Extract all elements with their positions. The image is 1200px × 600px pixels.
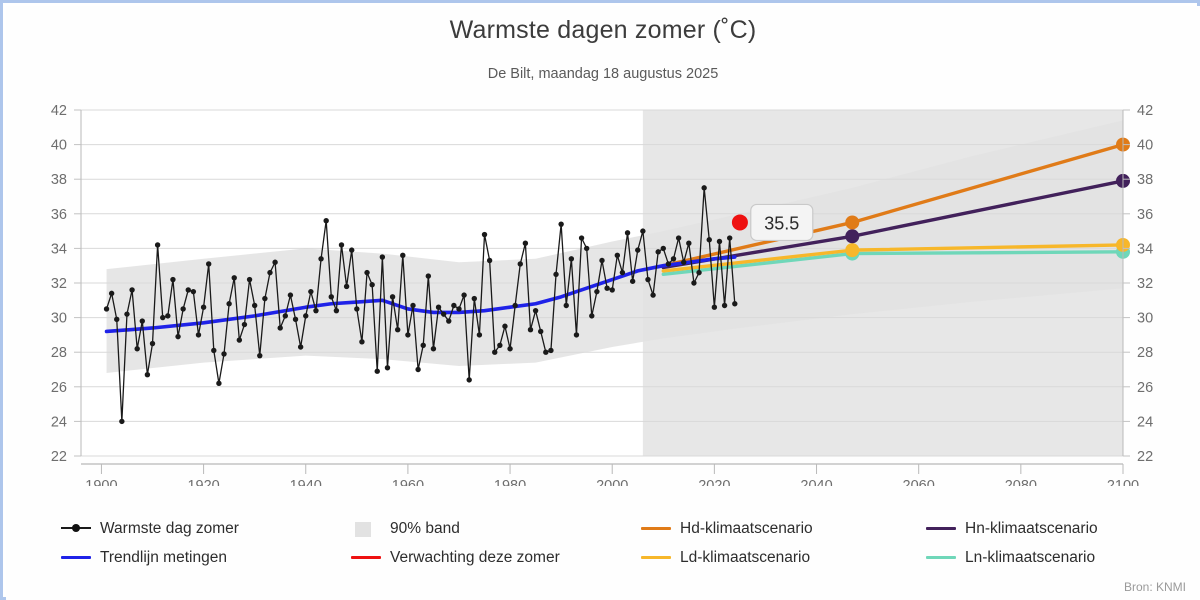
data-point-marker xyxy=(344,284,349,289)
data-point-marker xyxy=(518,261,523,266)
y-axis-tick-label: 32 xyxy=(1137,276,1153,292)
chart-canvas: Warmste dagen zomer (˚C) De Bilt, maanda… xyxy=(6,6,1200,600)
data-point-marker xyxy=(145,372,150,377)
data-point-marker xyxy=(727,235,732,240)
y-axis-tick-label: 40 xyxy=(1137,138,1153,154)
data-point-marker xyxy=(124,311,129,316)
x-axis-tick-label: 1940 xyxy=(290,478,322,486)
data-point-marker xyxy=(676,235,681,240)
y-axis-tick-label: 24 xyxy=(51,414,67,430)
data-point-marker xyxy=(574,332,579,337)
chart-svg: 35.5222224242626282830303232343436363838… xyxy=(6,96,1200,486)
legend-label: Verwachting deze zomer xyxy=(390,549,560,567)
y-axis-tick-label: 26 xyxy=(1137,380,1153,396)
data-point-marker xyxy=(722,303,727,308)
data-point-marker xyxy=(323,218,328,223)
line-swatch-icon xyxy=(61,550,91,566)
data-point-marker xyxy=(134,346,139,351)
data-point-marker xyxy=(569,256,574,261)
y-axis-tick-label: 42 xyxy=(51,103,67,119)
area-swatch-icon xyxy=(351,521,381,537)
y-axis-tick-label: 36 xyxy=(1137,207,1153,223)
data-point-marker xyxy=(129,287,134,292)
data-point-marker xyxy=(732,301,737,306)
data-point-marker xyxy=(599,258,604,263)
legend-item-verwachting-deze-zomer[interactable]: Verwachting deze zomer xyxy=(351,549,641,567)
data-point-marker xyxy=(553,272,558,277)
y-axis-tick-label: 28 xyxy=(1137,345,1153,361)
data-point-marker xyxy=(257,353,262,358)
data-point-marker xyxy=(405,332,410,337)
data-point-marker xyxy=(318,256,323,261)
data-point-marker xyxy=(696,270,701,275)
data-point-marker xyxy=(451,303,456,308)
data-point-marker xyxy=(671,256,676,261)
data-point-marker xyxy=(175,334,180,339)
data-point-marker xyxy=(548,348,553,353)
data-point-marker xyxy=(655,249,660,254)
data-point-marker xyxy=(589,313,594,318)
data-point-marker xyxy=(645,277,650,282)
data-point-marker xyxy=(283,313,288,318)
data-point-marker xyxy=(272,260,277,265)
data-point-marker xyxy=(610,287,615,292)
data-point-marker xyxy=(528,327,533,332)
data-point-marker xyxy=(691,280,696,285)
data-point-marker xyxy=(104,306,109,311)
data-point-marker xyxy=(298,344,303,349)
legend-item-trendlijn-metingen[interactable]: Trendlijn metingen xyxy=(61,549,351,567)
legend-label: Warmste dag zomer xyxy=(100,520,239,538)
plot-area: 35.5222224242626282830303232343436363838… xyxy=(6,96,1200,486)
legend-row-1: Warmste dag zomer 90% band Hd-klimaatsce… xyxy=(61,514,1161,543)
x-axis-tick-label: 2000 xyxy=(596,478,628,486)
data-point-marker xyxy=(666,261,671,266)
data-point-marker xyxy=(206,261,211,266)
chart-legend: Warmste dag zomer 90% band Hd-klimaatsce… xyxy=(61,514,1161,576)
data-point-marker xyxy=(640,228,645,233)
legend-label: 90% band xyxy=(390,520,460,538)
line-marker-swatch-icon xyxy=(61,521,91,537)
data-point-marker xyxy=(461,292,466,297)
legend-label: Hd-klimaatscenario xyxy=(680,520,813,538)
data-point-marker xyxy=(390,294,395,299)
data-point-marker xyxy=(339,242,344,247)
data-point-marker xyxy=(456,306,461,311)
legend-item-ln-klimaatscenario[interactable]: Ln-klimaatscenario xyxy=(926,549,1095,567)
data-point-marker xyxy=(410,303,415,308)
data-point-marker xyxy=(650,292,655,297)
data-point-marker xyxy=(400,253,405,258)
y-axis-tick-label: 22 xyxy=(1137,449,1153,465)
data-point-marker xyxy=(308,289,313,294)
data-point-marker xyxy=(615,253,620,258)
data-point-marker xyxy=(681,260,686,265)
y-axis-tick-label: 32 xyxy=(51,276,67,292)
data-point-marker xyxy=(415,367,420,372)
line-swatch-icon xyxy=(641,521,671,537)
scenario-endpoint-marker xyxy=(845,229,859,243)
data-point-marker xyxy=(426,273,431,278)
data-point-marker xyxy=(523,241,528,246)
data-point-marker xyxy=(349,247,354,252)
data-point-marker xyxy=(717,239,722,244)
data-point-marker xyxy=(558,221,563,226)
y-axis-tick-label: 42 xyxy=(1137,103,1153,119)
y-axis-tick-label: 36 xyxy=(51,207,67,223)
data-point-marker xyxy=(288,292,293,297)
data-point-marker xyxy=(380,254,385,259)
data-point-marker xyxy=(472,296,477,301)
y-axis-tick-label: 38 xyxy=(51,172,67,188)
x-axis-tick-label: 2040 xyxy=(800,478,832,486)
data-point-marker xyxy=(196,332,201,337)
legend-label: Hn-klimaatscenario xyxy=(965,520,1098,538)
data-point-marker xyxy=(497,343,502,348)
data-point-marker xyxy=(303,313,308,318)
chart-page: Warmste dagen zomer (˚C) De Bilt, maanda… xyxy=(0,0,1200,600)
data-point-marker xyxy=(155,242,160,247)
page-title: Warmste dagen zomer (˚C) xyxy=(6,16,1200,45)
data-point-marker xyxy=(150,341,155,346)
data-point-marker xyxy=(237,337,242,342)
data-point-marker xyxy=(533,308,538,313)
data-point-marker xyxy=(119,419,124,424)
scenario-endpoint-marker xyxy=(845,243,859,257)
legend-row-2: Trendlijn metingen Verwachting deze zome… xyxy=(61,543,1161,572)
data-point-marker xyxy=(262,296,267,301)
data-point-marker xyxy=(201,305,206,310)
data-point-marker xyxy=(186,287,191,292)
y-axis-tick-label: 26 xyxy=(51,380,67,396)
x-axis-tick-label: 2100 xyxy=(1107,478,1139,486)
data-point-marker xyxy=(180,306,185,311)
y-axis-tick-label: 30 xyxy=(1137,311,1153,327)
data-point-marker xyxy=(487,258,492,263)
data-point-marker xyxy=(226,301,231,306)
y-axis-tick-label: 22 xyxy=(51,449,67,465)
data-point-marker xyxy=(221,351,226,356)
data-point-marker xyxy=(604,285,609,290)
data-point-marker xyxy=(441,311,446,316)
data-point-marker xyxy=(502,324,507,329)
data-point-marker xyxy=(564,303,569,308)
x-axis-tick-label: 1960 xyxy=(392,478,424,486)
line-swatch-icon xyxy=(926,521,956,537)
scenario-endpoint-marker xyxy=(845,215,859,229)
data-point-marker xyxy=(364,270,369,275)
data-point-marker xyxy=(594,289,599,294)
data-point-marker xyxy=(165,313,170,318)
line-swatch-icon xyxy=(641,550,671,566)
x-axis-tick-label: 2060 xyxy=(903,478,935,486)
y-axis-tick-label: 34 xyxy=(1137,241,1153,257)
data-point-marker xyxy=(369,282,374,287)
data-point-marker xyxy=(395,327,400,332)
legend-item-90-band[interactable]: 90% band xyxy=(351,520,641,538)
data-point-marker xyxy=(543,350,548,355)
source-note: Bron: KNMI xyxy=(1124,580,1186,594)
data-point-marker xyxy=(625,230,630,235)
data-point-marker xyxy=(477,332,482,337)
data-point-marker xyxy=(267,270,272,275)
data-point-marker xyxy=(170,277,175,282)
data-point-marker xyxy=(482,232,487,237)
data-point-marker xyxy=(359,339,364,344)
data-point-marker xyxy=(211,348,216,353)
data-point-marker xyxy=(712,305,717,310)
data-point-marker xyxy=(431,346,436,351)
data-point-marker xyxy=(375,369,380,374)
line-swatch-icon xyxy=(926,550,956,566)
y-axis-tick-label: 28 xyxy=(51,345,67,361)
x-axis-tick-label: 1920 xyxy=(187,478,219,486)
x-axis-tick-label: 2080 xyxy=(1005,478,1037,486)
data-point-marker xyxy=(216,381,221,386)
legend-item-hd-klimaatscenario[interactable]: Hd-klimaatscenario xyxy=(641,520,926,538)
y-axis-tick-label: 38 xyxy=(1137,172,1153,188)
value-callout-label: 35.5 xyxy=(764,213,799,233)
data-point-marker xyxy=(686,241,691,246)
line-swatch-icon xyxy=(351,550,381,566)
y-axis-tick-label: 40 xyxy=(51,138,67,154)
y-axis-tick-label: 24 xyxy=(1137,414,1153,430)
y-axis-tick-label: 34 xyxy=(51,241,67,257)
legend-label: Trendlijn metingen xyxy=(100,549,227,567)
data-point-marker xyxy=(293,317,298,322)
data-point-marker xyxy=(329,294,334,299)
x-axis-tick-label: 2020 xyxy=(698,478,730,486)
data-point-marker xyxy=(191,289,196,294)
data-point-marker xyxy=(421,343,426,348)
data-point-marker xyxy=(630,279,635,284)
data-point-marker xyxy=(247,277,252,282)
chart-subtitle: De Bilt, maandag 18 augustus 2025 xyxy=(6,66,1200,82)
data-point-marker xyxy=(492,350,497,355)
data-point-marker xyxy=(109,291,114,296)
data-point-marker xyxy=(436,305,441,310)
data-point-marker xyxy=(160,315,165,320)
legend-label: Ln-klimaatscenario xyxy=(965,549,1095,567)
expected-value-dot xyxy=(732,214,748,230)
data-point-marker xyxy=(661,246,666,251)
data-point-marker xyxy=(446,318,451,323)
data-point-marker xyxy=(538,329,543,334)
data-point-marker xyxy=(635,247,640,252)
data-point-marker xyxy=(313,308,318,313)
y-axis-tick-label: 30 xyxy=(51,311,67,327)
data-point-marker xyxy=(701,185,706,190)
data-point-marker xyxy=(252,303,257,308)
data-point-marker xyxy=(114,317,119,322)
legend-item-hn-klimaatscenario[interactable]: Hn-klimaatscenario xyxy=(926,520,1098,538)
data-point-marker xyxy=(467,377,472,382)
data-point-marker xyxy=(620,270,625,275)
data-point-marker xyxy=(334,308,339,313)
data-point-marker xyxy=(242,322,247,327)
data-point-marker xyxy=(232,275,237,280)
data-point-marker xyxy=(512,303,517,308)
legend-item-warmste-dag-zomer[interactable]: Warmste dag zomer xyxy=(61,520,351,538)
x-axis-tick-label: 1980 xyxy=(494,478,526,486)
data-point-marker xyxy=(385,365,390,370)
x-axis-tick-label: 1900 xyxy=(85,478,117,486)
legend-item-ld-klimaatscenario[interactable]: Ld-klimaatscenario xyxy=(641,549,926,567)
data-point-marker xyxy=(707,237,712,242)
data-point-marker xyxy=(278,325,283,330)
data-point-marker xyxy=(579,235,584,240)
data-point-marker xyxy=(507,346,512,351)
data-point-marker xyxy=(354,306,359,311)
data-point-marker xyxy=(584,246,589,251)
legend-label: Ld-klimaatscenario xyxy=(680,549,810,567)
data-point-marker xyxy=(140,318,145,323)
